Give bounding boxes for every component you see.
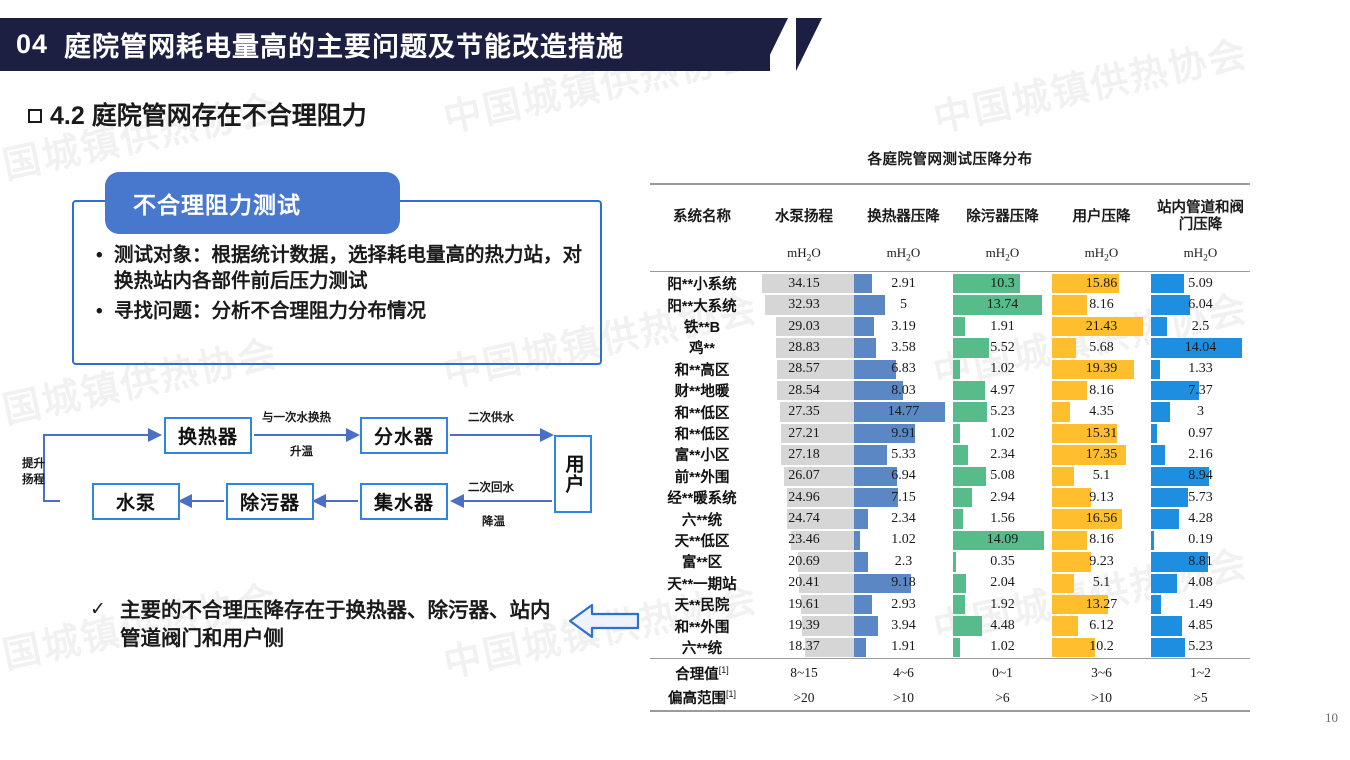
cell-bar-wrap: 2.93: [854, 594, 953, 615]
cell-value: 34.15: [754, 273, 854, 294]
cell-filter: 1.02: [953, 423, 1052, 444]
footer-value: 4~6: [854, 661, 953, 686]
cell-hx: 1.91: [854, 637, 953, 659]
cell-value: 27.21: [754, 423, 854, 444]
cell-value: 27.35: [754, 401, 854, 422]
table-header-row: 系统名称 水泵扬程 换热器压降 除污器压降 用户压降 站内管道和阀门压降: [650, 186, 1250, 244]
cell-value: 14.77: [854, 401, 953, 422]
bullet-text: 测试对象：根据统计数据，选择耗电量高的热力站，对换热站内各部件前后压力测试: [114, 243, 591, 295]
cell-bar-wrap: 5.23: [1151, 637, 1250, 658]
cell-value: 32.93: [754, 294, 854, 315]
conclusion-line: ✓ 主要的不合理压降存在于换热器、除污器、站内管道阀门和用户侧: [90, 597, 560, 652]
cell-bar-wrap: 34.15: [754, 273, 854, 294]
cell-bar-wrap: 4.08: [1151, 573, 1250, 594]
cell-pump: 24.74: [754, 508, 854, 529]
footer-value: 3~6: [1052, 661, 1151, 686]
cell-value: 5.23: [1151, 637, 1250, 658]
cell-system-name: 天**民院: [650, 594, 754, 615]
table-row: 和**外围19.393.944.486.124.85: [650, 615, 1250, 636]
list-item: • 测试对象：根据统计数据，选择耗电量高的热力站，对换热站内各部件前后压力测试: [96, 243, 591, 295]
cell-value: 5.33: [854, 444, 953, 465]
cell-user: 16.56: [1052, 508, 1151, 529]
cell-filter: 5.23: [953, 401, 1052, 422]
cell-value: 9.18: [854, 573, 953, 594]
cell-user: 13.27: [1052, 594, 1151, 615]
table-row: 前**外围26.076.945.085.18.94: [650, 466, 1250, 487]
col-header-station: 站内管道和阀门压降: [1151, 186, 1250, 244]
unit-blank: [650, 244, 754, 271]
cell-value: 5.1: [1052, 466, 1151, 487]
cell-bar-wrap: 8.16: [1052, 294, 1151, 315]
cell-bar-wrap: 2.16: [1151, 444, 1250, 465]
cell-value: 5.68: [1052, 337, 1151, 358]
cell-bar-wrap: 10.2: [1052, 637, 1151, 658]
bullet-text: 寻找问题：分析不合理阻力分布情况: [114, 299, 591, 325]
cell-station: 0.97: [1151, 423, 1250, 444]
check-icon: ✓: [90, 597, 120, 652]
cell-bar-wrap: 2.5: [1151, 316, 1250, 337]
flow-node-filter: 除污器: [226, 483, 314, 520]
cell-bar-wrap: 24.96: [754, 487, 854, 508]
cell-system-name: 前**外围: [650, 466, 754, 487]
cell-bar-wrap: 3.58: [854, 337, 953, 358]
cell-value: 2.5: [1151, 316, 1250, 337]
cell-bar-wrap: 6.83: [854, 359, 953, 380]
cell-value: 1.02: [953, 637, 1052, 658]
table-row: 六**统18.371.911.0210.25.23: [650, 637, 1250, 659]
slide-number: 04: [0, 29, 48, 60]
slide-title-banner: 04 庭院管网耗电量高的主要问题及节能改造措施: [0, 18, 770, 71]
cell-system-name: 富**小区: [650, 444, 754, 465]
cell-bar-wrap: 1.02: [854, 530, 953, 551]
cell-value: 8.16: [1052, 530, 1151, 551]
cell-system-name: 天**低区: [650, 530, 754, 551]
cell-bar-wrap: 5.1: [1052, 466, 1151, 487]
cell-value: 27.18: [754, 444, 854, 465]
cell-value: 20.69: [754, 551, 854, 572]
cell-pump: 19.39: [754, 615, 854, 636]
bullet-dot-icon: •: [96, 243, 114, 295]
cell-bar-wrap: 8.94: [1151, 466, 1250, 487]
flow-node-label: 集水器: [374, 488, 434, 515]
cell-bar-wrap: 15.31: [1052, 423, 1151, 444]
cell-value: 19.39: [1052, 359, 1151, 380]
cell-value: 4.48: [953, 615, 1052, 636]
table-footer-row: 偏高范围[1]>20>10>6>10>5: [650, 686, 1250, 711]
footer-label: 偏高范围[1]: [650, 686, 754, 711]
cell-bar-wrap: 5.08: [953, 466, 1052, 487]
cell-value: 10.3: [953, 273, 1052, 294]
cell-bar-wrap: 24.74: [754, 508, 854, 529]
cell-filter: 4.97: [953, 380, 1052, 401]
cell-pump: 24.96: [754, 487, 854, 508]
cell-system-name: 和**外围: [650, 615, 754, 636]
page-number: 10: [1325, 710, 1338, 726]
cell-bar-wrap: 3.19: [854, 316, 953, 337]
cell-bar-wrap: 1.02: [953, 423, 1052, 444]
flow-node-label: 除污器: [240, 488, 300, 515]
cell-user: 8.16: [1052, 294, 1151, 315]
cell-filter: 13.74: [953, 294, 1052, 315]
cell-system-name: 经**暖系统: [650, 487, 754, 508]
cell-value: 14.04: [1151, 337, 1250, 358]
cell-value: 2.16: [1151, 444, 1250, 465]
slide-title: 庭院管网耗电量高的主要问题及节能改造措施: [48, 25, 624, 64]
cell-value: 5.73: [1151, 487, 1250, 508]
table-row: 鸡**28.833.585.525.6814.04: [650, 337, 1250, 358]
cell-value: 1.91: [953, 316, 1052, 337]
cell-value: 19.39: [754, 615, 854, 636]
cell-value: 1.91: [854, 637, 953, 658]
watermark-text: 中国城镇供热协会: [928, 22, 1252, 142]
flow-label-cooling: 降温: [482, 513, 505, 529]
cell-filter: 1.91: [953, 316, 1052, 337]
cell-hx: 2.34: [854, 508, 953, 529]
flow-node-water-separator: 分水器: [360, 417, 448, 454]
cell-value: 1.02: [854, 530, 953, 551]
cell-pump: 29.03: [754, 316, 854, 337]
cell-station: 6.04: [1151, 294, 1250, 315]
cell-pump: 27.21: [754, 423, 854, 444]
cell-bar-wrap: 5.09: [1151, 273, 1250, 294]
table-row: 和**高区28.576.831.0219.391.33: [650, 359, 1250, 380]
callout-bullet-list: • 测试对象：根据统计数据，选择耗电量高的热力站，对换热站内各部件前后压力测试 …: [96, 243, 591, 329]
footer-value: >10: [854, 686, 953, 711]
cell-user: 17.35: [1052, 444, 1151, 465]
cell-user: 5.1: [1052, 466, 1151, 487]
cell-filter: 2.34: [953, 444, 1052, 465]
table-body: 阳**小系统34.152.9110.315.865.09阳**大系统32.935…: [650, 273, 1250, 659]
cell-bar-wrap: 6.04: [1151, 294, 1250, 315]
table-row: 阳**大系统32.93513.748.166.04: [650, 294, 1250, 315]
cell-station: 1.33: [1151, 359, 1250, 380]
table-row: 天**低区23.461.0214.098.160.19: [650, 530, 1250, 551]
cell-filter: 2.04: [953, 573, 1052, 594]
cell-value: 10.2: [1052, 637, 1151, 658]
cell-station: 1.49: [1151, 594, 1250, 615]
cell-bar-wrap: 19.39: [1052, 359, 1151, 380]
footer-value: >10: [1052, 686, 1151, 711]
cell-bar-wrap: 15.86: [1052, 273, 1151, 294]
cell-bar-wrap: 6.94: [854, 466, 953, 487]
cell-value: 2.34: [854, 508, 953, 529]
cell-bar-wrap: 13.27: [1052, 594, 1151, 615]
cell-bar-wrap: 32.93: [754, 294, 854, 315]
cell-bar-wrap: 18.37: [754, 637, 854, 658]
flow-node-pump: 水泵: [92, 483, 180, 520]
cell-hx: 2.93: [854, 594, 953, 615]
cell-bar-wrap: 9.23: [1052, 551, 1151, 572]
cell-value: 18.37: [754, 637, 854, 658]
cell-hx: 7.15: [854, 487, 953, 508]
cell-station: 7.37: [1151, 380, 1250, 401]
cell-value: 1.92: [953, 594, 1052, 615]
cell-station: 8.81: [1151, 551, 1250, 572]
cell-system-name: 六**统: [650, 637, 754, 659]
list-item: • 寻找问题：分析不合理阻力分布情况: [96, 299, 591, 325]
cell-value: 2.94: [953, 487, 1052, 508]
cell-bar-wrap: 14.09: [953, 530, 1052, 551]
cell-station: 4.85: [1151, 615, 1250, 636]
cell-value: 5.09: [1151, 273, 1250, 294]
table-head: 系统名称 水泵扬程 换热器压降 除污器压降 用户压降 站内管道和阀门压降 mH2…: [650, 184, 1250, 273]
cell-value: 28.83: [754, 337, 854, 358]
cell-value: 20.41: [754, 573, 854, 594]
table-title: 各庭院管网测试压降分布: [650, 148, 1250, 169]
cell-value: 3.19: [854, 316, 953, 337]
cell-hx: 3.58: [854, 337, 953, 358]
cell-bar-wrap: 28.83: [754, 337, 854, 358]
flow-node-water-collector: 集水器: [360, 483, 448, 520]
cell-user: 5.68: [1052, 337, 1151, 358]
cell-filter: 4.48: [953, 615, 1052, 636]
cell-filter: 10.3: [953, 273, 1052, 294]
cell-bar-wrap: 13.74: [953, 294, 1052, 315]
footnote-marker: [1]: [726, 689, 736, 699]
cell-bar-wrap: 20.41: [754, 573, 854, 594]
cell-station: 14.04: [1151, 337, 1250, 358]
cell-system-name: 阳**小系统: [650, 273, 754, 294]
cell-station: 5.73: [1151, 487, 1250, 508]
cell-bar-wrap: 14.04: [1151, 337, 1250, 358]
table-row: 和**低区27.3514.775.234.353: [650, 401, 1250, 422]
footer-value: 0~1: [953, 661, 1052, 686]
cell-hx: 6.94: [854, 466, 953, 487]
cell-value: 9.91: [854, 423, 953, 444]
cell-bar-wrap: 5.73: [1151, 487, 1250, 508]
cell-bar-wrap: 5.1: [1052, 573, 1151, 594]
cell-value: 4.85: [1151, 615, 1250, 636]
cell-bar-wrap: 2.94: [953, 487, 1052, 508]
cell-filter: 0.35: [953, 551, 1052, 572]
cell-bar-wrap: 27.18: [754, 444, 854, 465]
cell-value: 2.91: [854, 273, 953, 294]
cell-bar-wrap: 2.04: [953, 573, 1052, 594]
cell-value: 3.94: [854, 615, 953, 636]
footer-value: >6: [953, 686, 1052, 711]
cell-value: 3.58: [854, 337, 953, 358]
cell-bar-wrap: 7.15: [854, 487, 953, 508]
cell-bar-wrap: 8.81: [1151, 551, 1250, 572]
cell-bar-wrap: 1.02: [953, 359, 1052, 380]
table-foot: 合理值[1]8~154~60~13~61~2偏高范围[1]>20>10>6>10…: [650, 659, 1250, 713]
cell-pump: 18.37: [754, 637, 854, 659]
cell-user: 21.43: [1052, 316, 1151, 337]
cell-pump: 20.41: [754, 573, 854, 594]
cell-bar-wrap: 4.28: [1151, 508, 1250, 529]
cell-value: 1.49: [1151, 594, 1250, 615]
cell-value: 8.16: [1052, 294, 1151, 315]
cell-station: 2.16: [1151, 444, 1250, 465]
unit-hx: mH2O: [854, 244, 953, 271]
flow-label-exchange-bottom: 升温: [290, 443, 313, 459]
flow-label-lift-head-line2: 扬程: [22, 471, 45, 487]
cell-value: 15.31: [1052, 423, 1151, 444]
cell-value: 29.03: [754, 316, 854, 337]
col-header-hx: 换热器压降: [854, 186, 953, 244]
cell-bar-wrap: 8.16: [1052, 530, 1151, 551]
cell-bar-wrap: 4.97: [953, 380, 1052, 401]
footnote-marker: [1]: [719, 665, 729, 675]
cell-user: 9.23: [1052, 551, 1151, 572]
cell-user: 15.31: [1052, 423, 1151, 444]
cell-bar-wrap: 1.91: [854, 637, 953, 658]
cell-station: 4.28: [1151, 508, 1250, 529]
cell-value: 17.35: [1052, 444, 1151, 465]
cell-bar-wrap: 5.68: [1052, 337, 1151, 358]
cell-system-name: 六**统: [650, 508, 754, 529]
cell-bar-wrap: 1.91: [953, 316, 1052, 337]
cell-bar-wrap: 29.03: [754, 316, 854, 337]
cell-system-name: 和**低区: [650, 401, 754, 422]
cell-station: 2.5: [1151, 316, 1250, 337]
banner-slash-decoration: [762, 18, 822, 71]
cell-value: 5.08: [953, 466, 1052, 487]
cell-value: 1.33: [1151, 359, 1250, 380]
cell-filter: 1.02: [953, 637, 1052, 659]
cell-value: 5.1: [1052, 573, 1151, 594]
system-flow-diagram: 换热器 分水器 用户 集水器 除污器 水泵 提升 扬程 与一次水换热 升温 二次…: [0, 395, 650, 545]
cell-value: 8.03: [854, 380, 953, 401]
cell-bar-wrap: 5: [854, 294, 953, 315]
footer-value: 8~15: [754, 661, 854, 686]
cell-station: 0.19: [1151, 530, 1250, 551]
cell-value: 0.97: [1151, 423, 1250, 444]
cell-value: 1.02: [953, 359, 1052, 380]
cell-value: 8.81: [1151, 551, 1250, 572]
footer-value: 1~2: [1151, 661, 1250, 686]
cell-bar-wrap: 1.33: [1151, 359, 1250, 380]
cell-value: 21.43: [1052, 316, 1151, 337]
cell-value: 4.08: [1151, 573, 1250, 594]
table-rule-final: [650, 711, 1250, 713]
col-header-user: 用户压降: [1052, 186, 1151, 244]
cell-value: 26.07: [754, 466, 854, 487]
cell-user: 6.12: [1052, 615, 1151, 636]
flow-node-label: 分水器: [374, 422, 434, 449]
cell-hx: 5: [854, 294, 953, 315]
cell-system-name: 和**高区: [650, 359, 754, 380]
col-header-pump: 水泵扬程: [754, 186, 854, 244]
cell-station: 8.94: [1151, 466, 1250, 487]
cell-pump: 28.54: [754, 380, 854, 401]
cell-bar-wrap: 1.49: [1151, 594, 1250, 615]
cell-pump: 19.61: [754, 594, 854, 615]
cell-system-name: 和**低区: [650, 423, 754, 444]
cell-value: 8.16: [1052, 380, 1151, 401]
cell-user: 10.2: [1052, 637, 1151, 659]
cell-value: 0.19: [1151, 530, 1250, 551]
section-heading-label: 4.2 庭院管网存在不合理阻力: [50, 102, 367, 130]
cell-station: 3: [1151, 401, 1250, 422]
cell-system-name: 阳**大系统: [650, 294, 754, 315]
pressure-drop-table-panel: 各庭院管网测试压降分布 系统名称 水泵扬程 换热器压降 除污器压降 用户压降 站…: [650, 148, 1250, 713]
cell-bar-wrap: 6.12: [1052, 615, 1151, 636]
cell-value: 8.94: [1151, 466, 1250, 487]
cell-system-name: 天**一期站: [650, 573, 754, 594]
cell-filter: 14.09: [953, 530, 1052, 551]
unit-pump: mH2O: [754, 244, 854, 271]
cell-bar-wrap: 5.52: [953, 337, 1052, 358]
cell-bar-wrap: 21.43: [1052, 316, 1151, 337]
flow-label-exchange-top: 与一次水换热: [262, 409, 331, 425]
flow-node-label: 换热器: [178, 422, 238, 449]
cell-filter: 2.94: [953, 487, 1052, 508]
cell-bar-wrap: 10.3: [953, 273, 1052, 294]
left-arrow-icon: [568, 600, 640, 647]
cell-value: 5.52: [953, 337, 1052, 358]
cell-station: 4.08: [1151, 573, 1250, 594]
flow-label-secondary-supply: 二次供水: [468, 409, 514, 425]
bullet-dot-icon: •: [96, 299, 114, 325]
cell-filter: 1.56: [953, 508, 1052, 529]
cell-bar-wrap: 26.07: [754, 466, 854, 487]
cell-bar-wrap: 8.03: [854, 380, 953, 401]
table-row: 天**民院19.612.931.9213.271.49: [650, 594, 1250, 615]
cell-filter: 1.92: [953, 594, 1052, 615]
flow-node-user: 用户: [554, 435, 592, 513]
cell-value: 0.35: [953, 551, 1052, 572]
conclusion-text: 主要的不合理压降存在于换热器、除污器、站内管道阀门和用户侧: [120, 597, 560, 652]
slide-root: 中国城镇供热协会 中国城镇供热协会 中国城镇供热协会 中国城镇供热协会 中国城镇…: [0, 0, 1350, 760]
cell-hx: 2.3: [854, 551, 953, 572]
cell-bar-wrap: 9.18: [854, 573, 953, 594]
cell-value: 2.3: [854, 551, 953, 572]
flow-node-label: 水泵: [116, 488, 156, 515]
table-row: 六**统24.742.341.5616.564.28: [650, 508, 1250, 529]
cell-bar-wrap: 4.85: [1151, 615, 1250, 636]
unit-station: mH2O: [1151, 244, 1250, 271]
cell-bar-wrap: 17.35: [1052, 444, 1151, 465]
cell-value: 2.04: [953, 573, 1052, 594]
cell-value: 7.37: [1151, 380, 1250, 401]
cell-pump: 23.46: [754, 530, 854, 551]
cell-bar-wrap: 20.69: [754, 551, 854, 572]
cell-value: 9.13: [1052, 487, 1151, 508]
section-heading: 4.2 庭院管网存在不合理阻力: [28, 96, 367, 132]
cell-value: 28.54: [754, 380, 854, 401]
cell-system-name: 财**地暖: [650, 380, 754, 401]
table-footer-row: 合理值[1]8~154~60~13~61~2: [650, 661, 1250, 686]
cell-bar-wrap: 28.57: [754, 359, 854, 380]
cell-user: 19.39: [1052, 359, 1151, 380]
cell-value: 6.04: [1151, 294, 1250, 315]
footer-value: >20: [754, 686, 854, 711]
cell-bar-wrap: 0.35: [953, 551, 1052, 572]
cell-value: 13.74: [953, 294, 1052, 315]
cell-bar-wrap: 9.13: [1052, 487, 1151, 508]
cell-bar-wrap: 1.92: [953, 594, 1052, 615]
cell-hx: 8.03: [854, 380, 953, 401]
cell-hx: 14.77: [854, 401, 953, 422]
cell-bar-wrap: 28.54: [754, 380, 854, 401]
cell-value: 16.56: [1052, 508, 1151, 529]
cell-value: 6.83: [854, 359, 953, 380]
cell-bar-wrap: 4.48: [953, 615, 1052, 636]
cell-bar-wrap: 19.39: [754, 615, 854, 636]
table-unit-row: mH2O mH2O mH2O mH2O mH2O: [650, 244, 1250, 271]
footer-label: 合理值[1]: [650, 661, 754, 686]
cell-user: 4.35: [1052, 401, 1151, 422]
cell-bar-wrap: 1.02: [953, 637, 1052, 658]
cell-bar-wrap: 7.37: [1151, 380, 1250, 401]
cell-bar-wrap: 3.94: [854, 615, 953, 636]
cell-value: 2.93: [854, 594, 953, 615]
cell-hx: 9.18: [854, 573, 953, 594]
cell-bar-wrap: 16.56: [1052, 508, 1151, 529]
cell-value: 13.27: [1052, 594, 1151, 615]
cell-bar-wrap: 3: [1151, 401, 1250, 422]
